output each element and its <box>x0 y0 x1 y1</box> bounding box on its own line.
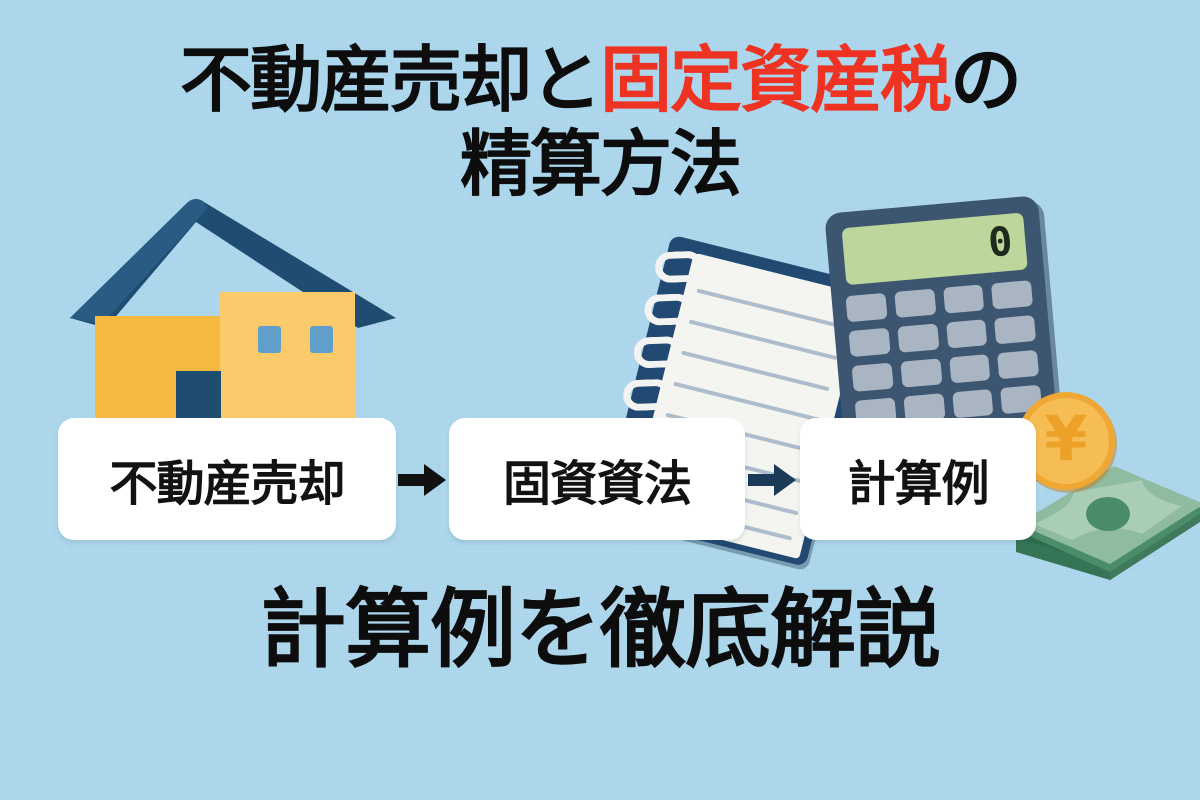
notepad-rule <box>689 320 837 361</box>
headline-block: 計算例を徹底解説 <box>0 584 1200 677</box>
flow-step-badge-1[interactable]: 不動産売却 <box>58 418 396 540</box>
notepad-spiral-ring <box>623 379 672 412</box>
notepad-rule <box>696 288 844 329</box>
page-title-line-1: 不動産売却と固定資産税の <box>0 44 1200 116</box>
arrow-right-icon <box>396 462 448 498</box>
flow-arrow-right-icon <box>746 462 798 498</box>
title-accent-keyword: 固定資産税 <box>600 38 950 122</box>
notepad-rule <box>681 351 829 392</box>
title-block: 不動産売却と固定資産税の 精算方法 <box>0 44 1200 200</box>
calculator-key <box>845 293 887 322</box>
poster-canvas: 0 ¥ <box>0 0 1200 800</box>
notepad-spiral-ring <box>655 251 704 284</box>
calculator-key <box>894 289 936 318</box>
flow-step-label-1: 不動産売却 <box>109 444 344 514</box>
calculator-key <box>949 354 991 383</box>
flow-step-badge-3[interactable]: 計算例 <box>800 418 1036 540</box>
calculator-key <box>952 389 994 418</box>
calculator-key <box>943 284 985 313</box>
calculator-screen-value: 0 <box>986 220 1015 266</box>
flow-arrow-right-icon <box>396 462 448 498</box>
house-illustration <box>58 196 408 446</box>
calculator-key <box>897 323 939 352</box>
calculator-key <box>994 315 1036 344</box>
page-title-line-2: 精算方法 <box>0 128 1200 200</box>
calculator-key <box>900 358 942 387</box>
calculator-key <box>852 363 894 392</box>
calculator-key <box>991 280 1033 309</box>
flow-step-label-2: 固資資法 <box>503 444 691 514</box>
calculator-key <box>946 319 988 348</box>
calculator-keypad <box>845 280 1042 427</box>
title-suffix: の <box>950 38 1020 122</box>
headline-text: 計算例を徹底解説 <box>260 580 940 680</box>
calculator-key <box>997 350 1039 379</box>
arrow-right-icon <box>746 462 798 498</box>
calculator-key <box>849 328 891 357</box>
house-window-icon <box>310 326 333 353</box>
title-prefix: 不動産売却と <box>180 38 600 122</box>
notepad-rule <box>673 382 821 423</box>
notepad-spiral-ring <box>633 336 682 369</box>
notepad-spiral-ring <box>644 293 693 326</box>
flow-step-label-3: 計算例 <box>847 444 988 514</box>
house-window-icon <box>258 326 281 353</box>
flow-step-badge-2[interactable]: 固資資法 <box>449 418 745 540</box>
flow-badge-row: 不動産売却 固資資法 計算例 <box>0 418 1200 548</box>
